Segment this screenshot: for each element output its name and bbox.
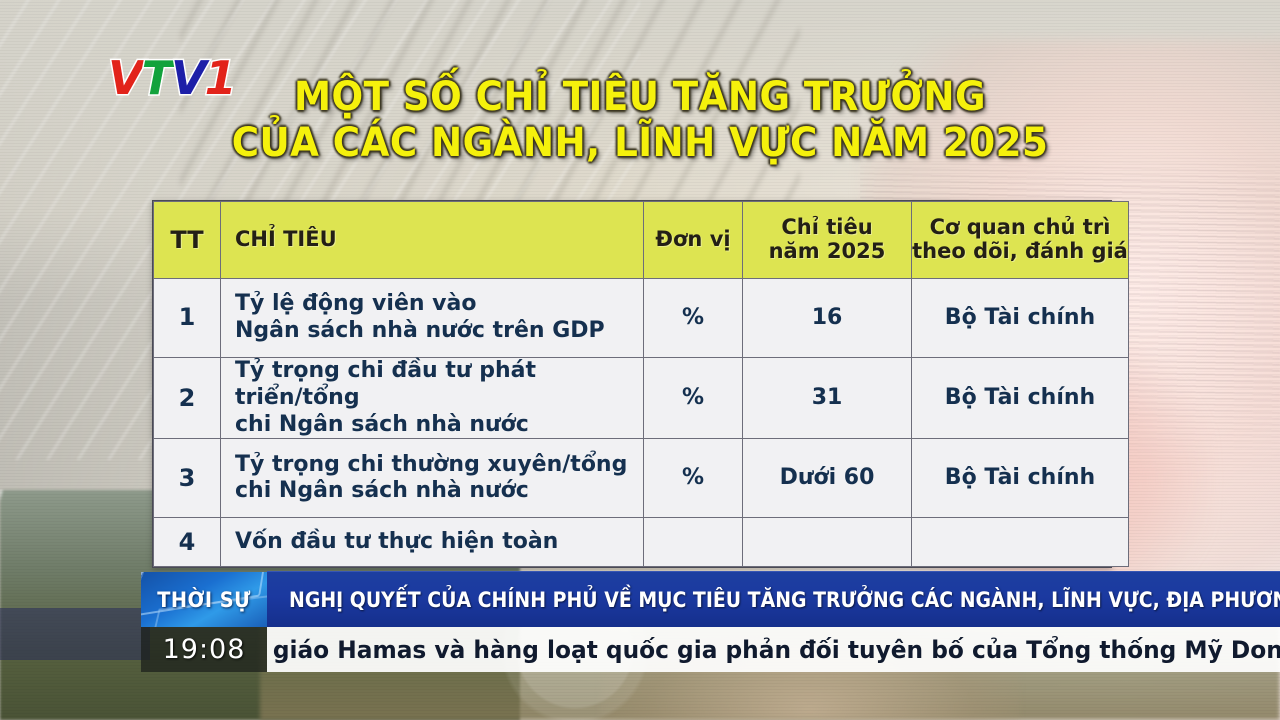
- headline-text: NGHỊ QUYẾT CỦA CHÍNH PHỦ VỀ MỤC TIÊU TĂN…: [289, 572, 1172, 627]
- clock-display: 19:08: [141, 627, 267, 672]
- cell-indicator-line-1: Tỷ trọng chi thường xuyên/tổng: [235, 452, 643, 479]
- column-header-indicator: CHỈ TIÊU: [221, 202, 644, 279]
- program-logo-box: THỜI SỰ: [141, 572, 267, 627]
- column-header-organization-line-1: Cơ quan chủ trì: [912, 216, 1128, 240]
- cell-indicator-line-1: Tỷ lệ động viên vào: [235, 291, 643, 318]
- lower-third-shadow-panel: [0, 608, 150, 660]
- cell-indicator-line-2: chi Ngân sách nhà nước: [235, 478, 643, 505]
- indicators-table-container: TT CHỈ TIÊU Đơn vị Chỉ tiêu năm 2025 Cơ …: [152, 200, 1112, 568]
- column-header-unit: Đơn vị: [644, 202, 743, 279]
- cell-organization: Bộ Tài chính: [912, 358, 1129, 439]
- column-header-tt: TT: [154, 202, 221, 279]
- table-row: 3 Tỷ trọng chi thường xuyên/tổng chi Ngâ…: [154, 439, 1129, 518]
- cell-indicator-line-1: Tỷ trọng chi đầu tư phát triển/tổng: [235, 358, 643, 412]
- column-header-organization-line-2: theo dõi, đánh giá: [912, 240, 1128, 264]
- cell-indicator: Tỷ trọng chi đầu tư phát triển/tổng chi …: [221, 358, 644, 439]
- cell-organization: Bộ Tài chính: [912, 439, 1129, 518]
- cell-indicator-line-2: Ngân sách nhà nước trên GDP: [235, 318, 643, 345]
- cell-organization: Bộ Tài chính: [912, 279, 1129, 358]
- news-ticker-text: giáo Hamas và hàng loạt quốc gia phản đố…: [267, 636, 1280, 664]
- table-row: 1 Tỷ lệ động viên vào Ngân sách nhà nước…: [154, 279, 1129, 358]
- program-logo-label: THỜI SỰ: [146, 572, 262, 627]
- cell-target: Dưới 60: [743, 439, 912, 518]
- cell-unit: %: [644, 439, 743, 518]
- indicators-table: TT CHỈ TIÊU Đơn vị Chỉ tiêu năm 2025 Cơ …: [153, 201, 1129, 567]
- table-body: 1 Tỷ lệ động viên vào Ngân sách nhà nước…: [154, 279, 1129, 567]
- slide-title-line-1: MỘT SỐ CHỈ TIÊU TĂNG TRƯỞNG: [294, 74, 986, 120]
- cell-unit: %: [644, 358, 743, 439]
- news-ticker: giáo Hamas và hàng loạt quốc gia phản đố…: [267, 627, 1280, 672]
- column-header-organization: Cơ quan chủ trì theo dõi, đánh giá: [912, 202, 1129, 279]
- cell-indicator: Tỷ trọng chi thường xuyên/tổng chi Ngân …: [221, 439, 644, 518]
- cell-target: 31: [743, 358, 912, 439]
- column-header-target-line-2: năm 2025: [743, 240, 911, 264]
- slide-title: MỘT SỐ CHỈ TIÊU TĂNG TRƯỞNG CỦA CÁC NGÀN…: [45, 74, 1235, 167]
- slide-title-line-2: CỦA CÁC NGÀNH, LĨNH VỰC NĂM 2025: [45, 120, 1235, 166]
- cell-tt: 2: [154, 358, 221, 439]
- column-header-target-line-1: Chỉ tiêu: [743, 216, 911, 240]
- cell-tt: 3: [154, 439, 221, 518]
- table-header-row: TT CHỈ TIÊU Đơn vị Chỉ tiêu năm 2025 Cơ …: [154, 202, 1129, 279]
- cell-indicator-line-1: Vốn đầu tư thực hiện toàn: [235, 529, 643, 556]
- broadcast-frame: VTV1 MỘT SỐ CHỈ TIÊU TĂNG TRƯỞNG CỦA CÁC…: [0, 0, 1280, 720]
- cell-unit: %: [644, 279, 743, 358]
- cell-indicator-line-2: chi Ngân sách nhà nước: [235, 412, 643, 439]
- headline-bar: NGHỊ QUYẾT CỦA CHÍNH PHỦ VỀ MỤC TIÊU TĂN…: [267, 571, 1280, 627]
- column-header-target: Chỉ tiêu năm 2025: [743, 202, 912, 279]
- lower-third: THỜI SỰ NGHỊ QUYẾT CỦA CHÍNH PHỦ VỀ MỤC …: [0, 560, 1280, 720]
- cell-target: 16: [743, 279, 912, 358]
- table-row: 2 Tỷ trọng chi đầu tư phát triển/tổng ch…: [154, 358, 1129, 439]
- cell-indicator: Tỷ lệ động viên vào Ngân sách nhà nước t…: [221, 279, 644, 358]
- table-header: TT CHỈ TIÊU Đơn vị Chỉ tiêu năm 2025 Cơ …: [154, 202, 1129, 279]
- cell-tt: 1: [154, 279, 221, 358]
